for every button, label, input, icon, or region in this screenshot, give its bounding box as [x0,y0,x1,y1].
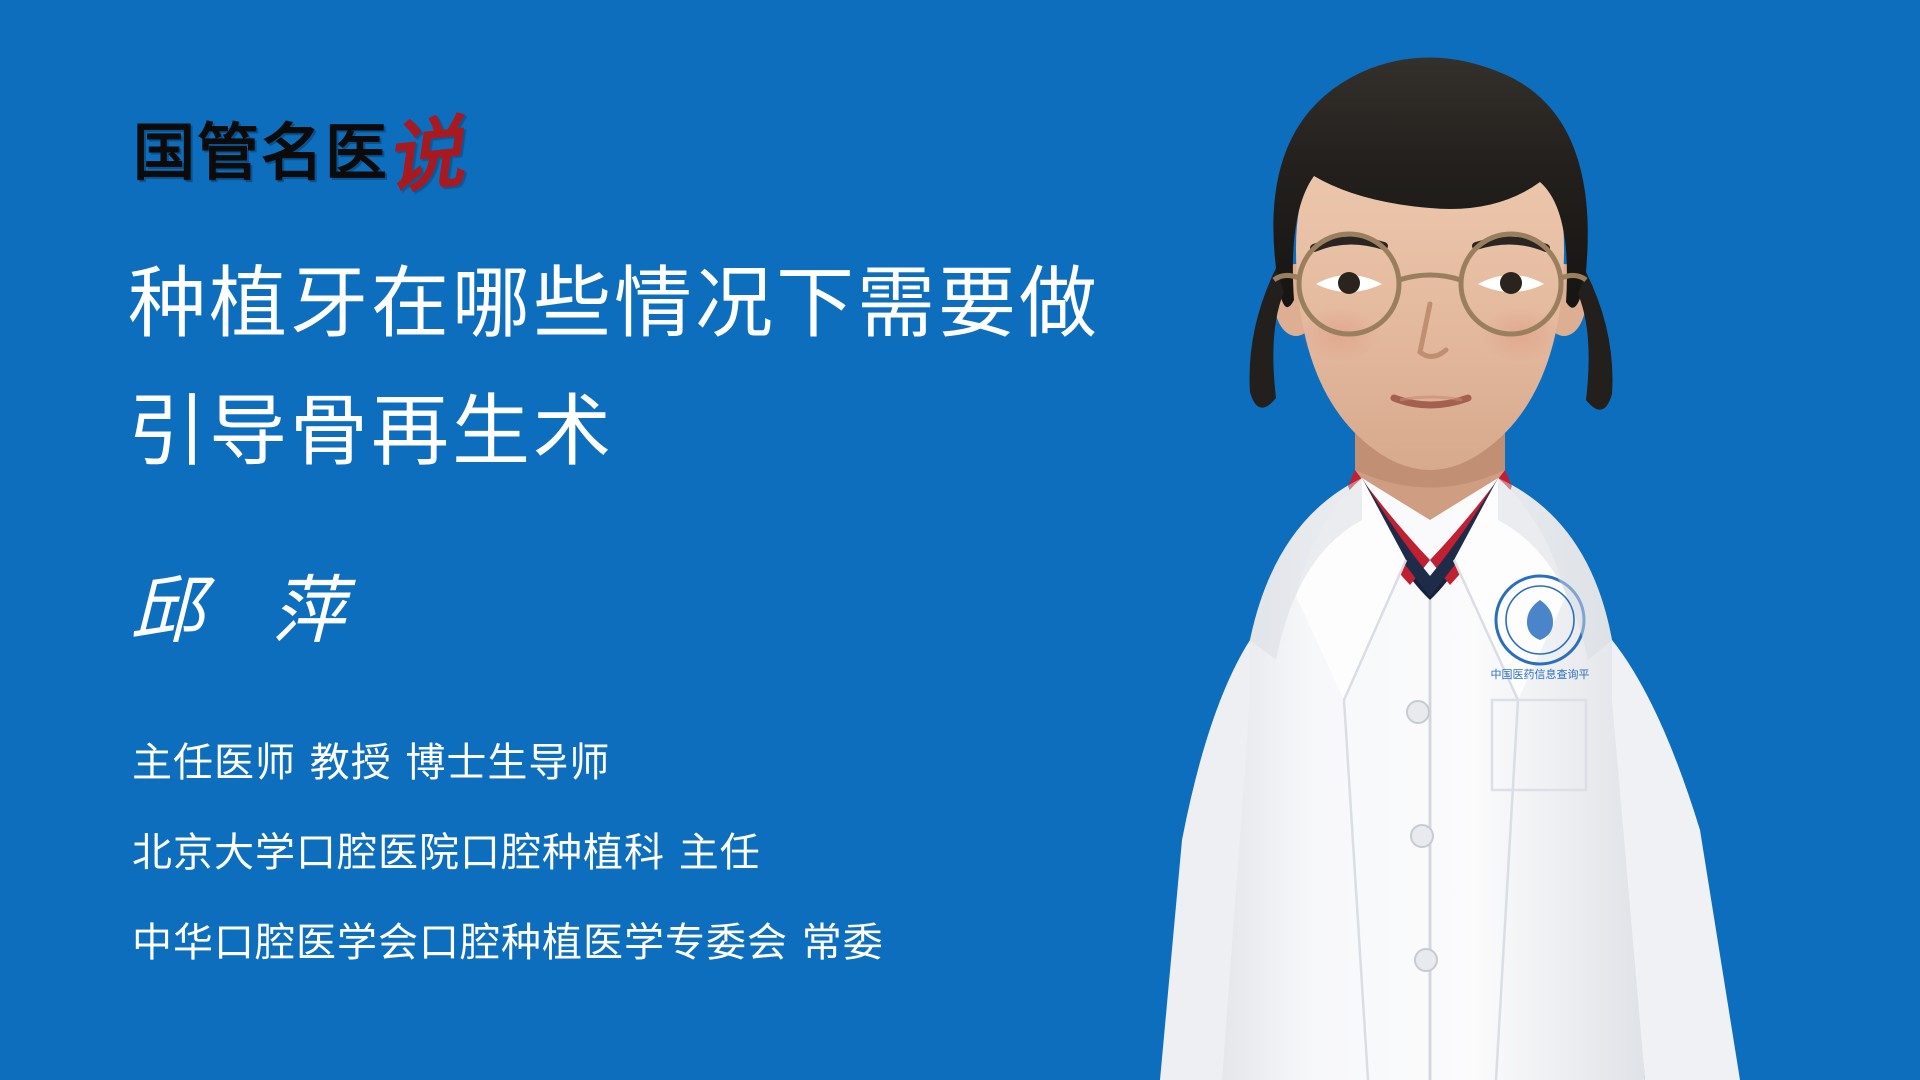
lab-coat-right-sleeve [1612,640,1740,1080]
doctor-portrait-photo: 中国医药信息查询平 [1100,0,1920,1080]
chin-hidden [1386,440,1474,448]
shirt-collar-trim-left [1348,470,1430,585]
eyebrow-left [1314,240,1384,248]
nose-hidden [1422,300,1444,357]
shirt-collar-trim-right [1430,470,1512,585]
ear-right [1542,264,1586,336]
doctor-credential-line-2: 北京大学口腔医院口腔种植科 主任 [132,808,1132,898]
program-logo: 国管名医 说 [133,98,463,184]
mouth [1394,398,1468,405]
doctor-credentials: 主任医师 教授 博士生导师 北京大学口腔医院口腔种植科 主任 中华口腔医学会口腔… [132,718,1132,988]
nose [1420,304,1446,357]
neck [1355,400,1505,548]
face [1296,110,1564,470]
doctor-credential-line-3: 中华口腔医学会口腔种植医学专委会 常委 [132,898,1132,988]
mouth-highlight [1400,397,1462,400]
lab-coat-button-1 [1407,701,1429,723]
lab-coat-lapel-right [1454,478,1566,700]
lab-coat-lapel-left [1296,478,1406,700]
slide-title-line-2: 引导骨再生术 [128,368,1308,496]
cheek-left [1300,306,1380,362]
lab-coat-body [1220,478,1645,1080]
pupil-left [1338,272,1360,294]
eye-white-left [1316,275,1382,292]
doctor-name: 邱 萍 [130,570,368,652]
eye-white-right [1478,275,1544,292]
eyeglasses [1274,234,1586,334]
slide-title: 种植牙在哪些情况下需要做 引导骨再生术 [128,240,1308,496]
hospital-badge: 中国医药信息查询平 [1491,576,1590,681]
program-logo-accent-text: 说 [382,118,467,196]
doctor-credential-line-1: 主任医师 教授 博士生导师 [132,718,1132,808]
lab-coat-left-sleeve [1160,640,1250,1080]
video-thumbnail-slide: 国管名医 说 种植牙在哪些情况下需要做 引导骨再生术 邱 萍 主任医师 教授 博… [0,0,1920,1080]
pupil-right [1500,272,1522,294]
program-logo-main-text: 国管名医 [133,122,389,184]
shirt-v-neck [1362,478,1498,596]
doctor-portrait-illustration: 中国医药信息查询平 [1100,0,1920,1080]
shoulder-shading-left [1250,478,1362,660]
lab-coat-lapel-edge-right [1454,560,1518,1080]
lab-coat-lapel-edge-left [1344,560,1406,1080]
hair [1273,57,1587,307]
hospital-badge-text: 中国医药信息查询平 [1491,667,1590,681]
lab-coat-button-2 [1411,825,1433,847]
lab-coat-button-3 [1415,949,1437,971]
shoulder-shading-right [1498,478,1612,660]
hair-side-right [1578,272,1612,410]
inner-shirt [1362,478,1498,600]
cheek-right [1480,306,1560,362]
lab-coat-chest-pocket [1492,700,1586,790]
eyebrow-right [1476,240,1546,248]
slide-title-line-1: 种植牙在哪些情况下需要做 [128,240,1308,368]
neck-shadow [1355,400,1505,488]
